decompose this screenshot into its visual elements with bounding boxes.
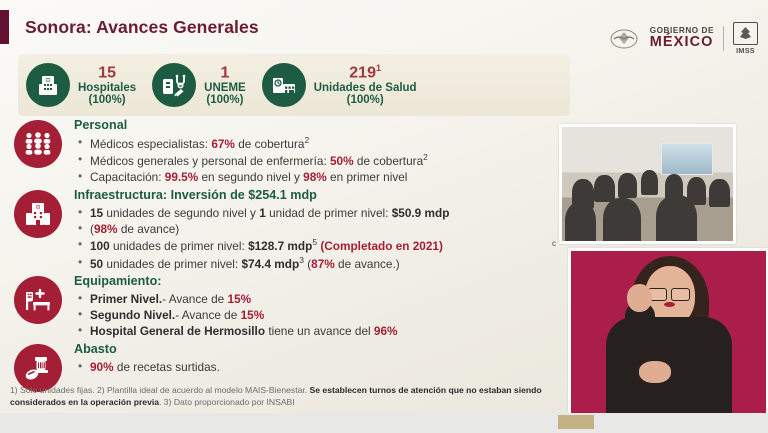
medical-equipment-icon xyxy=(14,276,62,324)
text-run: 99.5% xyxy=(165,170,198,184)
bullet-item: Capacitación: 99.5% en segundo nivel y 9… xyxy=(74,169,570,185)
stat-number: 2191 xyxy=(314,64,417,82)
text-run: Capacitación: xyxy=(90,170,165,184)
section-body: Abasto 90% de recetas surtidas. xyxy=(74,342,570,375)
text-run: $74.4 mdp xyxy=(242,257,300,271)
people-group-icon xyxy=(14,120,62,168)
text-run: 100 xyxy=(90,239,110,253)
text-run: de cobertura xyxy=(354,154,424,168)
text-run: 15% xyxy=(241,308,265,322)
section-heading: Infraestructura: Inversión de $254.1 mdp xyxy=(74,188,570,203)
text-run: en segundo nivel y xyxy=(198,170,303,184)
text-run: unidad de primer nivel: xyxy=(266,206,392,220)
slide-canvas: Sonora: Avances Generales GOBIERNO DE MÉ… xyxy=(0,0,768,433)
bullet-item: 90% de recetas surtidas. xyxy=(74,359,570,375)
content-sections: Personal Médicos especialistas: 67% de c… xyxy=(0,118,570,394)
section-body: Personal Médicos especialistas: 67% de c… xyxy=(74,118,570,186)
interpreter-frame xyxy=(571,251,766,417)
text-run: 98% xyxy=(303,170,327,184)
text-run: Médicos generales y personal de enfermer… xyxy=(90,154,330,168)
section-heading: Abasto xyxy=(74,342,570,357)
title-accent-bar xyxy=(0,10,9,44)
text-run: tiene un avance del xyxy=(265,324,374,338)
text-run: 90% xyxy=(90,360,114,374)
text-run: 67% xyxy=(211,137,235,151)
gobierno-line2: MÉXICO xyxy=(650,35,714,50)
bottom-strip xyxy=(0,413,768,433)
text-run: 15% xyxy=(228,292,252,306)
section-infraestructura: Infraestructura: Inversión de $254.1 mdp… xyxy=(0,188,570,272)
imss-label: IMSS xyxy=(736,46,755,55)
stat-text: 15 Hospitales (100%) xyxy=(78,64,136,107)
bullet-item: Médicos generales y personal de enfermer… xyxy=(74,152,570,169)
stat-text: 1 UNEME (100%) xyxy=(204,64,246,107)
photo-image xyxy=(562,127,733,241)
bullet-item: 100 unidades de primer nivel: $128.7 mdp… xyxy=(74,237,570,254)
stat-percent: (100%) xyxy=(204,94,246,106)
text-run: Segundo Nivel. xyxy=(90,308,175,322)
stat-label: Unidades de Salud xyxy=(314,82,417,94)
text-run: 96% xyxy=(374,324,398,338)
text-run: (Completado en 2021) xyxy=(320,239,443,253)
text-run: 87% xyxy=(311,257,335,271)
projection-screen xyxy=(661,143,713,175)
title-bar: Sonora: Avances Generales xyxy=(0,10,259,44)
glasses-right-lens-icon xyxy=(671,288,690,301)
bullet-item: Médicos especialistas: 67% de cobertura2 xyxy=(74,135,570,152)
section-body: Equipamiento: Primer Nivel.- Avance de 1… xyxy=(74,274,570,340)
text-run: unidades de segundo nivel y xyxy=(103,206,259,220)
bullet-item: (98% de avance) xyxy=(74,221,570,237)
text-run: de cobertura xyxy=(235,137,305,151)
text-run: 50% xyxy=(330,154,354,168)
text-run: Primer Nivel. xyxy=(90,292,162,306)
gobierno-text: GOBIERNO DE MÉXICO xyxy=(650,27,714,50)
sign-language-interpreter-video[interactable] xyxy=(568,248,768,420)
text-run: 1) Solo unidades fijas. 2) Plantilla ide… xyxy=(10,385,310,395)
stat-label: Hospitales xyxy=(78,82,136,94)
mexican-eagle-emblem-icon xyxy=(607,26,641,52)
stat-unidades-de-salud: 2191 Unidades de Salud (100%) xyxy=(254,63,425,107)
stat-number: 1 xyxy=(204,64,246,82)
text-run: 2 xyxy=(423,152,428,162)
bottom-tan-block xyxy=(558,415,594,429)
bullet-list: 90% de recetas surtidas. xyxy=(74,359,570,375)
text-run: - Avance de xyxy=(175,308,240,322)
text-run: - Avance de xyxy=(162,292,227,306)
section-body: Infraestructura: Inversión de $254.1 mdp… xyxy=(74,188,570,272)
text-run: 15 xyxy=(90,206,103,220)
bullet-list: Médicos especialistas: 67% de cobertura2… xyxy=(74,135,570,186)
stat-label: UNEME xyxy=(204,82,246,94)
text-run: de avance.) xyxy=(335,257,400,271)
bullet-list: 15 unidades de segundo nivel y 1 unidad … xyxy=(74,205,570,272)
bullet-item: 15 unidades de segundo nivel y 1 unidad … xyxy=(74,205,570,221)
text-run: . 3) Dato proporcionado por INSABI xyxy=(159,397,295,407)
uneme-clinic-icon xyxy=(152,63,196,107)
stat-hospitales: 15 Hospitales (100%) xyxy=(18,63,144,107)
bullet-item: 50 unidades de primer nivel: $74.4 mdp3 … xyxy=(74,255,570,272)
text-run: 2 xyxy=(304,135,309,145)
text-run: 50 xyxy=(90,257,103,271)
hospital-infrastructure-icon xyxy=(14,190,62,238)
section-heading: Equipamiento: xyxy=(74,274,570,289)
stats-strip: 15 Hospitales (100%) xyxy=(18,54,570,116)
text-run: $50.9 mdp xyxy=(392,206,450,220)
stat-uneme: 1 UNEME (100%) xyxy=(144,63,254,107)
text-run: unidades de primer nivel: xyxy=(110,239,248,253)
text-run: de avance) xyxy=(118,222,180,236)
text-run: Hospital General de Hermosillo xyxy=(90,324,265,338)
health-unit-icon xyxy=(262,63,306,107)
conference-room-photo xyxy=(559,124,736,244)
text-run: de recetas surtidas. xyxy=(114,360,220,374)
logo-divider xyxy=(723,26,724,51)
footnote: 1) Solo unidades fijas. 2) Plantilla ide… xyxy=(10,384,558,409)
bullet-item: Hospital General de Hermosillo tiene un … xyxy=(74,323,570,339)
government-logo-zone: GOBIERNO DE MÉXICO IMSS xyxy=(607,22,758,55)
text-run: en primer nivel xyxy=(327,170,408,184)
imss-eagle-icon xyxy=(733,22,758,45)
stat-percent: (100%) xyxy=(314,94,417,106)
stat-text: 2191 Unidades de Salud (100%) xyxy=(314,64,417,107)
interpreter-raised-hand xyxy=(627,284,652,312)
section-heading: Personal xyxy=(74,118,570,133)
bullet-item: Primer Nivel.- Avance de 15% xyxy=(74,291,570,307)
section-personal: Personal Médicos especialistas: 67% de c… xyxy=(0,118,570,186)
photo-caption: c xyxy=(552,239,556,248)
interpreter-lower-hand xyxy=(639,361,671,383)
section-equipamiento: Equipamiento: Primer Nivel.- Avance de 1… xyxy=(0,274,570,340)
stat-number: 15 xyxy=(78,64,136,82)
page-title: Sonora: Avances Generales xyxy=(25,17,259,38)
bullet-item: Segundo Nivel.- Avance de 15% xyxy=(74,307,570,323)
bullet-list: Primer Nivel.- Avance de 15%Segundo Nive… xyxy=(74,291,570,340)
stat-percent: (100%) xyxy=(78,94,136,106)
text-run: unidades de primer nivel: xyxy=(103,257,241,271)
text-run: 98% xyxy=(94,222,118,236)
hospital-building-icon xyxy=(26,63,70,107)
text-run: Médicos especialistas: xyxy=(90,137,211,151)
text-run: $128.7 mdp xyxy=(248,239,312,253)
imss-logo: IMSS xyxy=(733,22,758,55)
